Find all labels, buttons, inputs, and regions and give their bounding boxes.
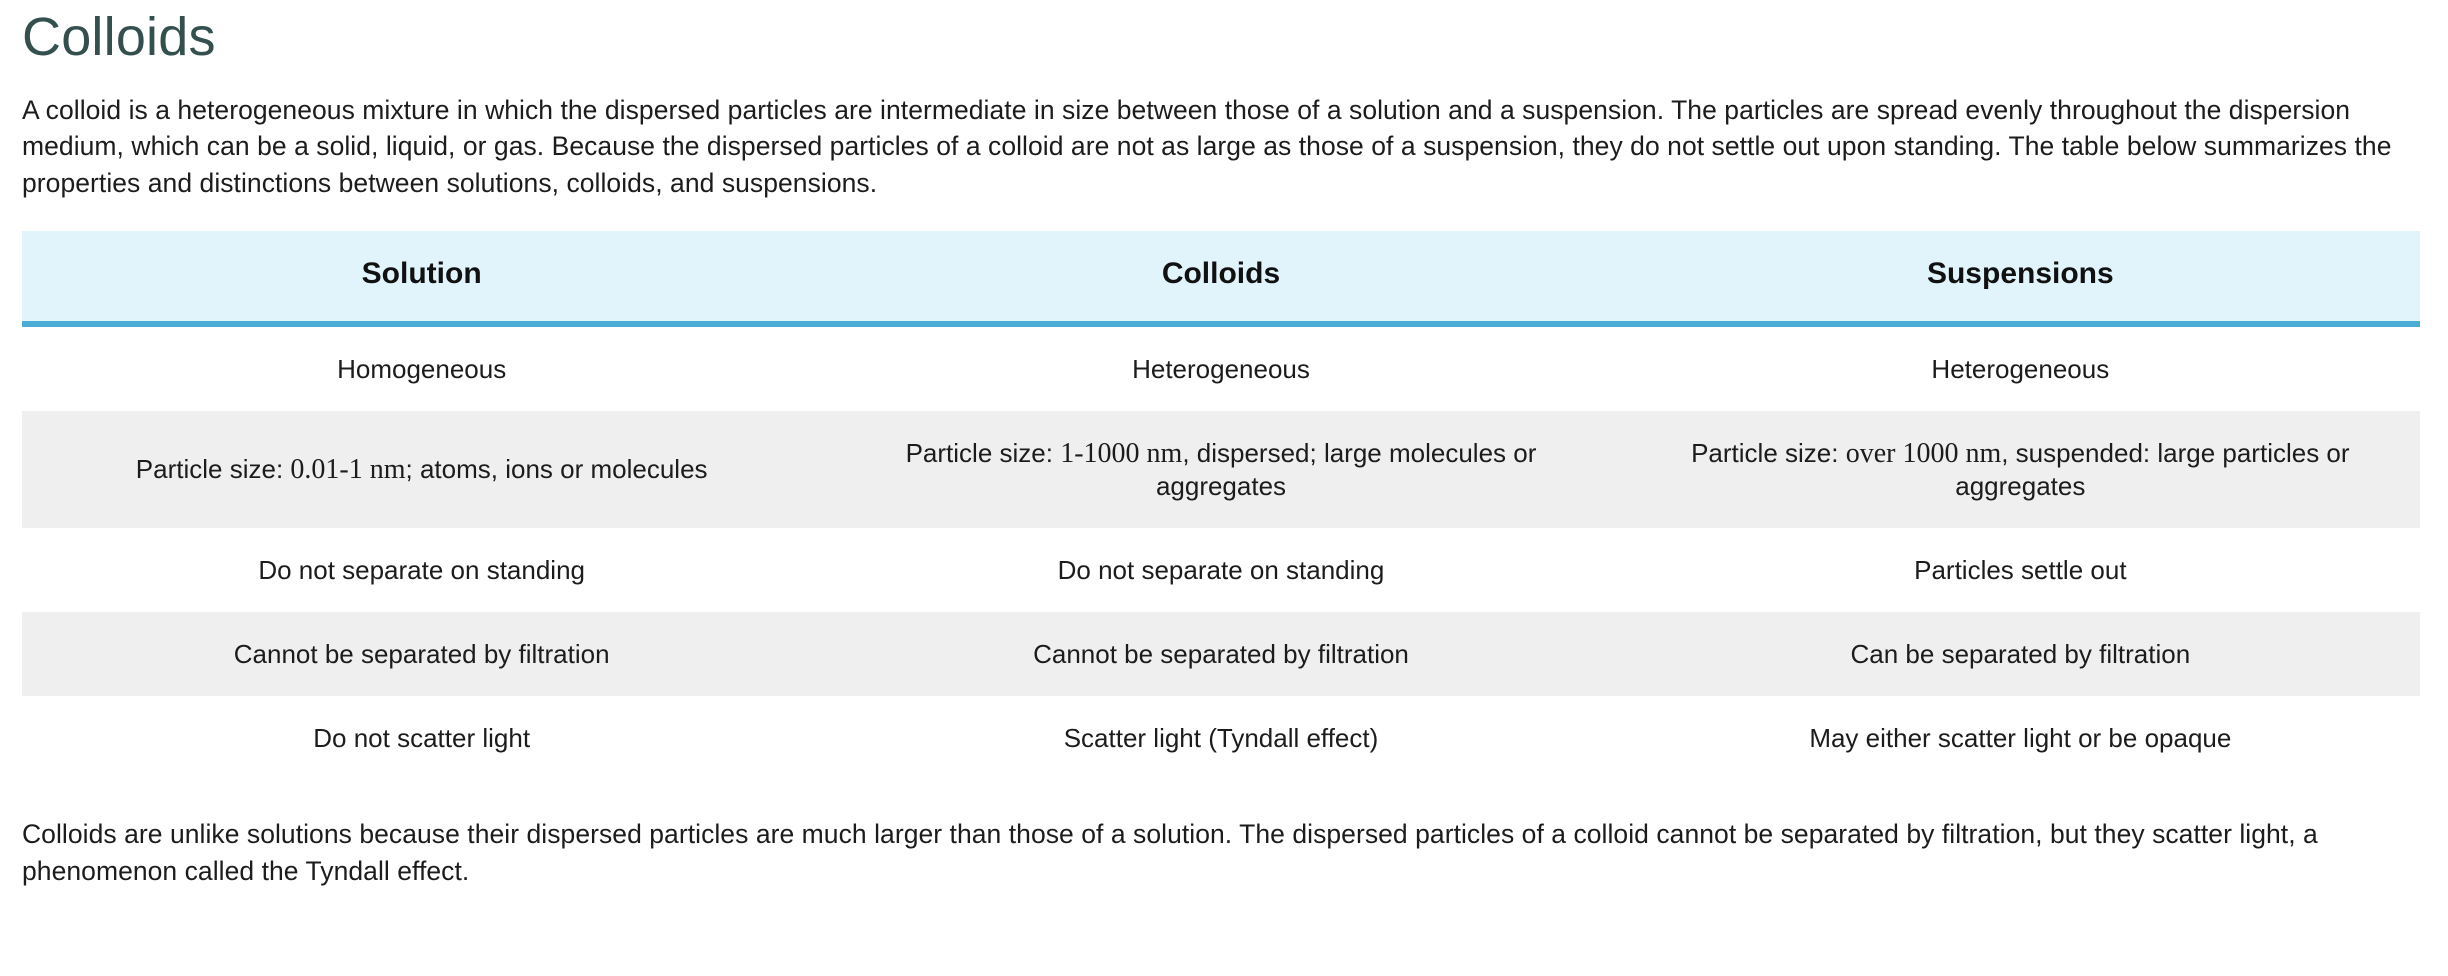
cell-text: Cannot be separated by filtration <box>1033 639 1409 669</box>
cell-text: Do not separate on standing <box>258 555 585 585</box>
cell-text: Particles settle out <box>1914 555 2126 585</box>
table-cell: Heterogeneous <box>1621 324 2420 411</box>
cell-text-suffix: , dispersed; large molecules or aggregat… <box>1156 438 1536 501</box>
column-header-colloids: Colloids <box>821 231 1620 324</box>
cell-text-prefix: Particle size: <box>1691 438 1846 468</box>
table-cell: Particles settle out <box>1621 528 2420 612</box>
table-row: Do not scatter lightScatter light (Tynda… <box>22 696 2420 780</box>
cell-text-suffix: ; atoms, ions or molecules <box>406 454 708 484</box>
table-cell: Particle size: 0.01-1 nm; atoms, ions or… <box>22 411 821 528</box>
page-title: Colloids <box>22 0 2426 70</box>
cell-text: Cannot be separated by filtration <box>234 639 610 669</box>
cell-text: May either scatter light or be opaque <box>1809 723 2231 753</box>
outro-paragraph: Colloids are unlike solutions because th… <box>22 816 2426 889</box>
column-header-suspensions: Suspensions <box>1621 231 2420 324</box>
table-cell: Can be separated by filtration <box>1621 612 2420 696</box>
table-cell: Do not separate on standing <box>821 528 1620 612</box>
column-header-solution: Solution <box>22 231 821 324</box>
table-header: Solution Colloids Suspensions <box>22 231 2420 324</box>
table-row: Cannot be separated by filtrationCannot … <box>22 612 2420 696</box>
table-cell: Scatter light (Tyndall effect) <box>821 696 1620 780</box>
cell-measurement-value: over 1000 nm <box>1846 438 2002 469</box>
table-cell: Do not scatter light <box>22 696 821 780</box>
document-page: Colloids A colloid is a heterogeneous mi… <box>0 0 2448 976</box>
table-cell: Particle size: over 1000 nm, suspended: … <box>1621 411 2420 528</box>
table-cell: Particle size: 1-1000 nm, dispersed; lar… <box>821 411 1620 528</box>
comparison-table: Solution Colloids Suspensions Homogeneou… <box>22 231 2420 780</box>
cell-text: Scatter light (Tyndall effect) <box>1064 723 1379 753</box>
intro-paragraph: A colloid is a heterogeneous mixture in … <box>22 92 2426 202</box>
table-cell: Do not separate on standing <box>22 528 821 612</box>
table-cell: Heterogeneous <box>821 324 1620 411</box>
table-row: HomogeneousHeterogeneousHeterogeneous <box>22 324 2420 411</box>
table-header-row: Solution Colloids Suspensions <box>22 231 2420 324</box>
cell-text-prefix: Particle size: <box>906 438 1061 468</box>
cell-text: Heterogeneous <box>1132 354 1310 384</box>
table-cell: Homogeneous <box>22 324 821 411</box>
cell-text: Do not scatter light <box>313 723 530 753</box>
cell-text: Do not separate on standing <box>1058 555 1385 585</box>
table-row: Do not separate on standingDo not separa… <box>22 528 2420 612</box>
cell-measurement-value: 0.01-1 nm <box>290 454 405 485</box>
cell-text-suffix: , suspended: large particles or aggregat… <box>1955 438 2349 501</box>
cell-text: Homogeneous <box>337 354 506 384</box>
table-cell: May either scatter light or be opaque <box>1621 696 2420 780</box>
table-cell: Cannot be separated by filtration <box>821 612 1620 696</box>
cell-text: Heterogeneous <box>1931 354 2109 384</box>
table-row: Particle size: 0.01-1 nm; atoms, ions or… <box>22 411 2420 528</box>
table-body: HomogeneousHeterogeneousHeterogeneousPar… <box>22 324 2420 780</box>
cell-measurement-value: 1-1000 nm <box>1060 438 1182 469</box>
table-cell: Cannot be separated by filtration <box>22 612 821 696</box>
cell-text-prefix: Particle size: <box>136 454 291 484</box>
cell-text: Can be separated by filtration <box>1851 639 2191 669</box>
